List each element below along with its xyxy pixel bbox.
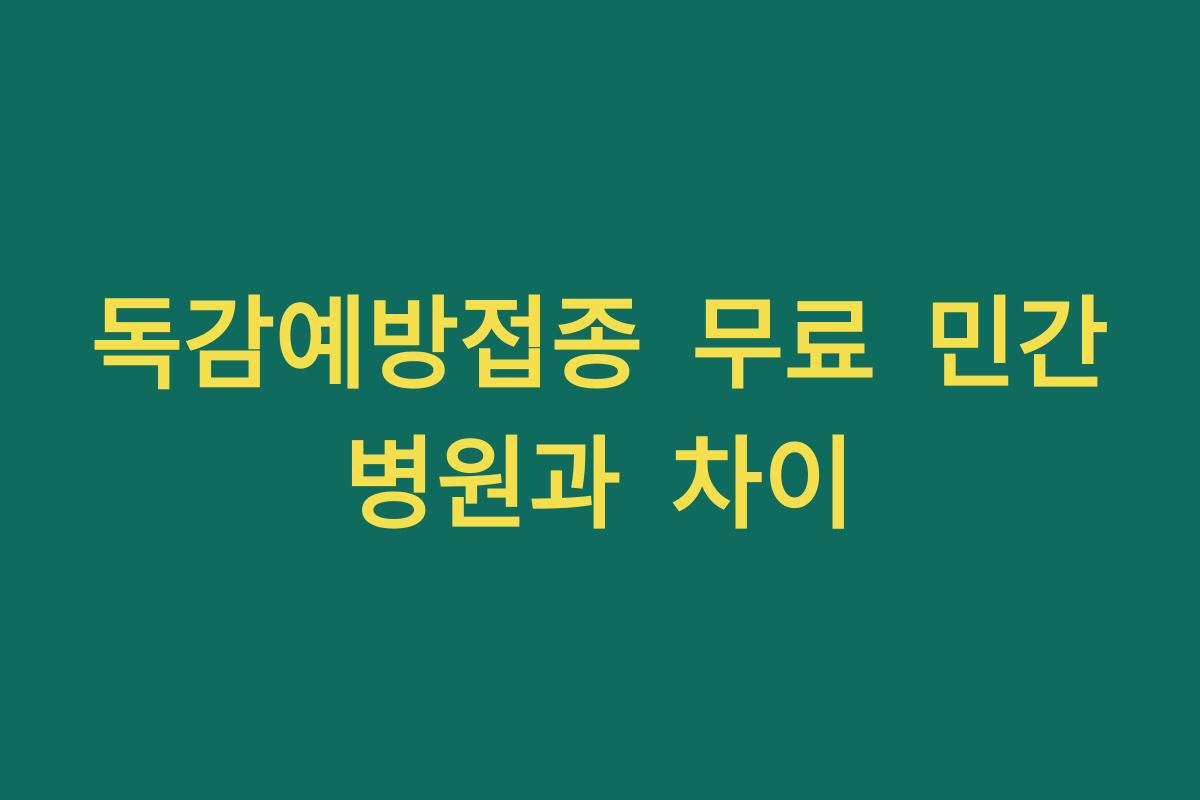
headline-title: 독감예방접종 무료 민간 병원과 차이 — [0, 275, 1200, 555]
headline-line-2: 병원과 차이 — [40, 415, 1160, 555]
headline-line-1: 독감예방접종 무료 민간 — [40, 275, 1160, 415]
thumbnail-banner: 독감예방접종 무료 민간 병원과 차이 — [0, 0, 1200, 800]
